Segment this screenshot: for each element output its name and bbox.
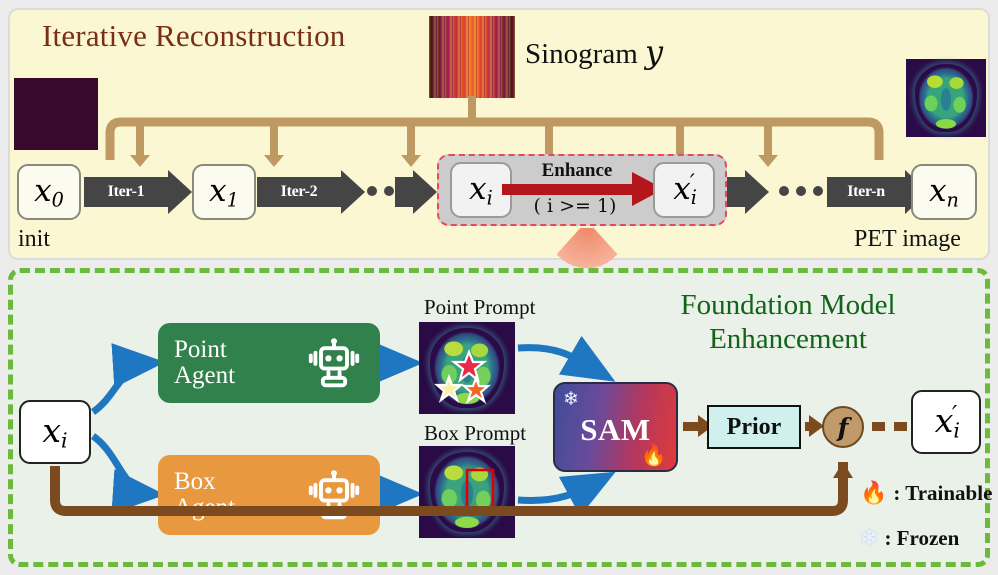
page-title: Iterative Reconstruction bbox=[42, 18, 346, 54]
enhance-condition-label: ( i >= 1) bbox=[490, 195, 660, 217]
sinogram-symbol: y bbox=[645, 33, 663, 71]
variable-box-xi-prime: xi′ bbox=[653, 162, 715, 218]
point-prompt-image bbox=[419, 322, 515, 414]
flame-icon: 🔥 bbox=[641, 445, 667, 466]
robot-icon bbox=[304, 337, 364, 389]
fusion-node: f bbox=[822, 406, 864, 448]
ellipsis-2 bbox=[779, 186, 823, 196]
variable-box-xn: xn bbox=[911, 164, 977, 220]
iter-1-label: Iter-1 bbox=[108, 183, 145, 201]
brain-silhouette bbox=[915, 64, 977, 131]
section-title: Foundation Model Enhancement bbox=[628, 288, 948, 356]
legend-frozen: ❄ : Frozen bbox=[860, 525, 959, 551]
sam-model-block[interactable]: ❄ SAM 🔥 bbox=[553, 382, 678, 472]
variable-box-xi-prime-output: xi′ bbox=[911, 390, 981, 454]
box-prompt-image bbox=[419, 446, 515, 538]
flame-icon: 🔥 bbox=[860, 480, 887, 506]
point-agent-label: Point Agent bbox=[174, 337, 235, 390]
xi-prime-output-symbol: xi′ bbox=[935, 401, 957, 443]
legend-trainable: 🔥 : Trainable bbox=[860, 480, 992, 506]
ellipsis-1 bbox=[350, 186, 394, 196]
point-prompt-label: Point Prompt bbox=[424, 295, 535, 320]
enhance-beam bbox=[432, 228, 732, 268]
enhance-label: Enhance bbox=[497, 160, 657, 182]
sam-to-prior-arrow bbox=[683, 422, 699, 431]
legend-trainable-label: : Trainable bbox=[893, 481, 992, 506]
sinogram-label: Sinogram y bbox=[525, 33, 663, 71]
xi-input-symbol: xi bbox=[42, 411, 67, 453]
x1-symbol: x1 bbox=[209, 173, 239, 211]
bus-drop-4 bbox=[545, 124, 553, 156]
enhance-arrow bbox=[502, 184, 634, 195]
bus-drop-3 bbox=[407, 124, 415, 156]
legend-frozen-label: : Frozen bbox=[884, 526, 959, 551]
xn-caption: PET image bbox=[854, 226, 961, 253]
sinogram-bus-stem bbox=[468, 96, 476, 124]
xn-symbol: xn bbox=[929, 173, 959, 211]
iter-n-label: Iter-n bbox=[847, 183, 885, 201]
variable-box-x0: x0 bbox=[17, 164, 81, 220]
x0-caption: init bbox=[18, 226, 50, 253]
box-agent-label: Box Agent bbox=[174, 469, 235, 522]
sinogram-image-thumbnail bbox=[429, 16, 515, 98]
variable-box-x1: x1 bbox=[192, 164, 256, 220]
xi-prime-symbol: xi′ bbox=[673, 170, 695, 209]
x0-symbol: x0 bbox=[34, 173, 64, 211]
pet-image-thumbnail bbox=[906, 59, 986, 137]
box-prompt-label: Box Prompt bbox=[424, 421, 526, 446]
box-prompt-rectangle bbox=[419, 446, 515, 538]
bus-drop-1 bbox=[136, 124, 144, 156]
bus-drop-6 bbox=[764, 124, 772, 156]
init-image-thumbnail bbox=[14, 78, 98, 150]
prior-block: Prior bbox=[707, 405, 801, 449]
arrow-from-enhance bbox=[727, 177, 769, 207]
arrow-to-enhance bbox=[395, 177, 437, 207]
bus-drop-2 bbox=[270, 124, 278, 156]
snowflake-icon: ❄ bbox=[860, 525, 878, 551]
iter-2-arrow: Iter-2 bbox=[257, 177, 365, 207]
bus-drop-5 bbox=[676, 124, 684, 156]
prior-to-fusion-arrow bbox=[805, 422, 810, 431]
point-agent-button[interactable]: Point Agent bbox=[158, 323, 380, 403]
box-agent-button[interactable]: Box Agent bbox=[158, 455, 380, 535]
iter-1-arrow: Iter-1 bbox=[84, 177, 192, 207]
iter-2-label: Iter-2 bbox=[281, 183, 318, 201]
robot-icon bbox=[304, 469, 364, 521]
snowflake-icon: ❄ bbox=[563, 390, 579, 409]
point-prompt-markers bbox=[419, 322, 515, 414]
variable-box-xi-input: xi bbox=[19, 400, 91, 464]
